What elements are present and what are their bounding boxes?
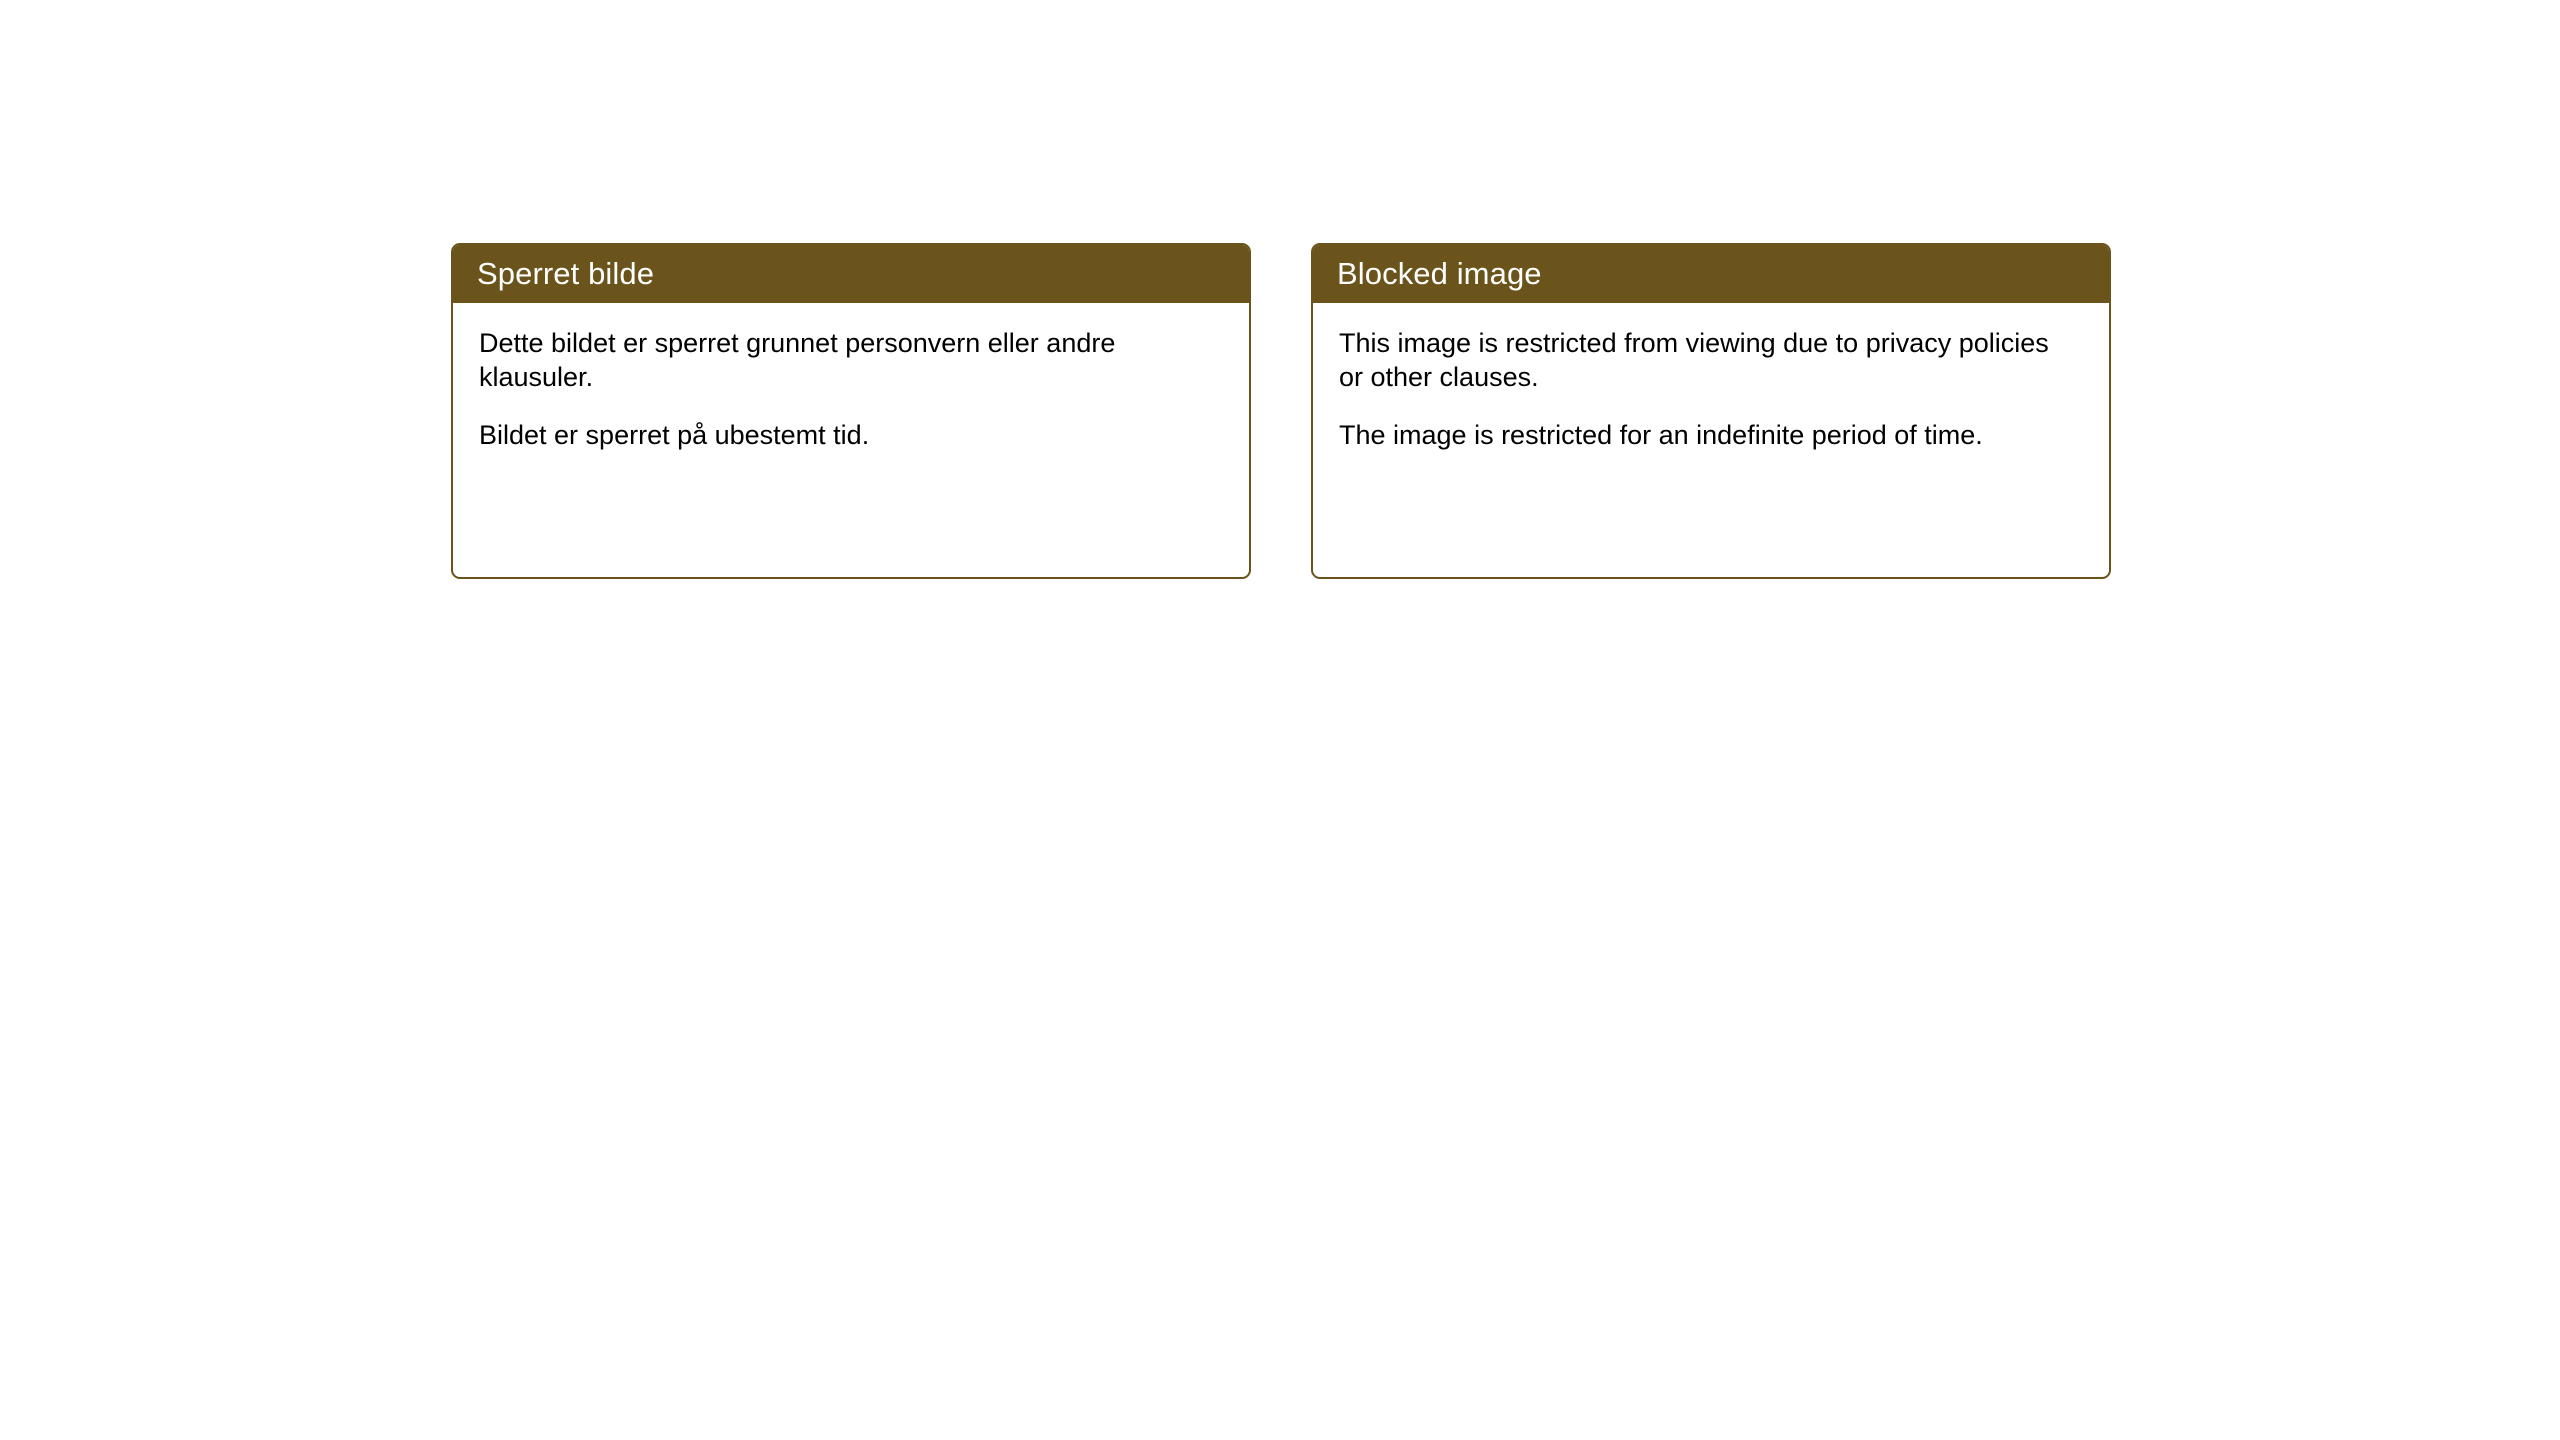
page-root: { "colors": { "header_background": "#6b5… <box>0 0 2560 1440</box>
notice-title-en: Blocked image <box>1337 258 1542 289</box>
notice-body-en: This image is restricted from viewing du… <box>1313 303 2109 577</box>
notice-paragraph-duration-no: Bildet er sperret på ubestemt tid. <box>479 418 1199 452</box>
blocked-image-notice-card-en: Blocked image This image is restricted f… <box>1311 243 2111 579</box>
notice-paragraph-reason-en: This image is restricted from viewing du… <box>1339 326 2059 394</box>
notice-paragraph-reason-no: Dette bildet er sperret grunnet personve… <box>479 326 1199 394</box>
blocked-image-notice-card-no: Sperret bilde Dette bildet er sperret gr… <box>451 243 1251 579</box>
notice-body-no: Dette bildet er sperret grunnet personve… <box>453 303 1249 577</box>
notice-header-no: Sperret bilde <box>451 243 1251 303</box>
notice-paragraph-duration-en: The image is restricted for an indefinit… <box>1339 418 2059 452</box>
notice-title-no: Sperret bilde <box>477 258 654 289</box>
notice-header-en: Blocked image <box>1311 243 2111 303</box>
